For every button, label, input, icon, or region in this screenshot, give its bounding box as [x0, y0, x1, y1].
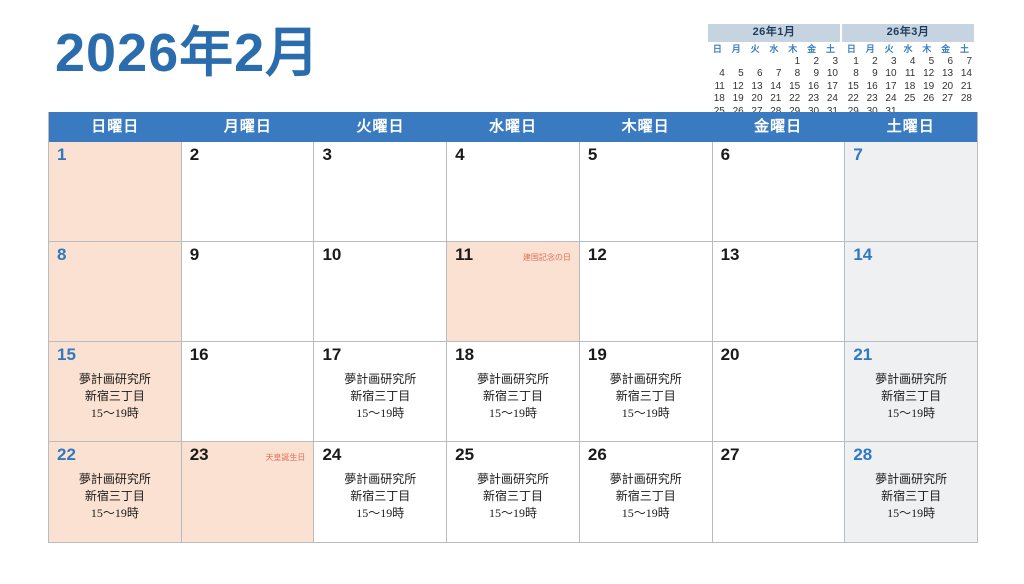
- mini-calendar-day[interactable]: [746, 56, 765, 69]
- day-cell-header: 5: [580, 142, 712, 162]
- mini-calendar-day[interactable]: 27: [936, 93, 955, 106]
- event-entry[interactable]: 夢計画研究所新宿三丁目15〜19時: [314, 471, 446, 523]
- event-entry[interactable]: 夢計画研究所新宿三丁目15〜19時: [580, 371, 712, 423]
- day-number: 22: [57, 446, 76, 465]
- event-entry[interactable]: 夢計画研究所新宿三丁目15〜19時: [580, 471, 712, 523]
- day-cell-header: 18: [447, 342, 579, 362]
- day-number: 8: [57, 246, 66, 265]
- event-line2: 新宿三丁目: [447, 388, 579, 405]
- day-cell-header: 1: [49, 142, 181, 162]
- mini-calendar-table: 日月火水木金土123456789101112131415161718192021…: [708, 43, 840, 118]
- event-line1: 夢計画研究所: [447, 471, 579, 488]
- event-line1: 夢計画研究所: [845, 371, 977, 388]
- mini-calendar-day[interactable]: 16: [802, 81, 821, 94]
- page-title: 2026年2月: [55, 26, 320, 80]
- mini-calendar-day[interactable]: 15: [783, 81, 802, 94]
- mini-calendar-prev-month: 26年1月日月火水木金土1234567891011121314151617181…: [708, 24, 840, 118]
- mini-calendar-day[interactable]: 20: [746, 93, 765, 106]
- mini-calendar-day[interactable]: 11: [899, 68, 918, 81]
- mini-calendar-day[interactable]: 24: [821, 93, 840, 106]
- day-cell-header: 26: [580, 442, 712, 462]
- mini-calendar-weekday-label: 金: [802, 43, 821, 56]
- day-number: 24: [322, 446, 341, 465]
- event-line2: 新宿三丁目: [580, 488, 712, 505]
- day-number: 21: [853, 346, 872, 365]
- day-number: 12: [588, 246, 607, 265]
- day-number: 28: [853, 446, 872, 465]
- day-cell-header: 16: [182, 342, 314, 362]
- event-line1: 夢計画研究所: [49, 371, 181, 388]
- mini-calendar-day[interactable]: 6: [746, 68, 765, 81]
- mini-calendar-week-row: 123: [708, 56, 840, 69]
- mini-calendar-day[interactable]: 19: [917, 81, 936, 94]
- event-line2: 新宿三丁目: [845, 488, 977, 505]
- weekday-header-2: 火曜日: [314, 112, 447, 142]
- mini-calendar-weekday-label: 月: [727, 43, 746, 56]
- mini-calendar-day[interactable]: 22: [842, 93, 861, 106]
- day-cell-24[interactable]: 24夢計画研究所新宿三丁目15〜19時: [314, 442, 447, 542]
- day-cell-25[interactable]: 25夢計画研究所新宿三丁目15〜19時: [447, 442, 580, 542]
- event-line3: 15〜19時: [314, 505, 446, 522]
- day-number: 6: [721, 146, 730, 165]
- mini-calendar-day[interactable]: 5: [917, 56, 936, 69]
- mini-calendar-title: 26年1月: [708, 24, 840, 42]
- event-line1: 夢計画研究所: [49, 471, 181, 488]
- event-line2: 新宿三丁目: [314, 388, 446, 405]
- day-cell-26[interactable]: 26夢計画研究所新宿三丁目15〜19時: [580, 442, 713, 542]
- event-line1: 夢計画研究所: [580, 471, 712, 488]
- event-line3: 15〜19時: [845, 405, 977, 422]
- mini-calendar-day[interactable]: 17: [880, 81, 899, 94]
- day-cell-27[interactable]: 27: [713, 442, 846, 542]
- calendar-header-region: 2026年2月 26年1月日月火水木金土12345678910111213141…: [0, 0, 1024, 108]
- day-cell-header: 2: [182, 142, 314, 162]
- mini-calendar-day[interactable]: 1: [842, 56, 861, 69]
- day-cell-15[interactable]: 15夢計画研究所新宿三丁目15〜19時: [49, 342, 182, 442]
- weekday-header-5: 金曜日: [712, 112, 845, 142]
- weekday-header-6: 土曜日: [844, 112, 977, 142]
- mini-calendar-next-month: 26年3月日月火水木金土1234567891011121314151617181…: [842, 24, 974, 118]
- day-cell-header: 27: [713, 442, 845, 462]
- week-row: 22夢計画研究所新宿三丁目15〜19時23天皇誕生日24夢計画研究所新宿三丁目1…: [49, 442, 977, 542]
- mini-calendar-day[interactable]: 11: [708, 81, 727, 94]
- calendar-grid: 日曜日月曜日火曜日水曜日木曜日金曜日土曜日 1234567891011建国記念の…: [48, 112, 978, 543]
- day-cell-header: 21: [845, 342, 977, 362]
- mini-calendar-week-row: 891011121314: [842, 68, 974, 81]
- day-cell-6[interactable]: 6: [713, 142, 846, 242]
- weekday-header-4: 木曜日: [579, 112, 712, 142]
- day-cell-header: 23天皇誕生日: [182, 442, 314, 462]
- mini-calendar-week-row: 15161718192021: [842, 81, 974, 94]
- mini-calendar-weekday-row: 日月火水木金土: [842, 43, 974, 56]
- day-number: 1: [57, 146, 66, 165]
- mini-calendar-week-row: 11121314151617: [708, 81, 840, 94]
- event-line3: 15〜19時: [49, 505, 181, 522]
- day-cell-10[interactable]: 10: [314, 242, 447, 342]
- day-number: 5: [588, 146, 597, 165]
- day-cell-11[interactable]: 11建国記念の日: [447, 242, 580, 342]
- event-entry[interactable]: 夢計画研究所新宿三丁目15〜19時: [49, 371, 181, 423]
- event-entry[interactable]: 夢計画研究所新宿三丁目15〜19時: [845, 471, 977, 523]
- day-cell-header: 20: [713, 342, 845, 362]
- day-cell-3[interactable]: 3: [314, 142, 447, 242]
- day-cell-header: 13: [713, 242, 845, 262]
- day-cell-header: 25: [447, 442, 579, 462]
- event-line1: 夢計画研究所: [447, 371, 579, 388]
- mini-calendar-day[interactable]: [765, 56, 784, 69]
- day-cell-header: 9: [182, 242, 314, 262]
- mini-calendar-day[interactable]: 23: [802, 93, 821, 106]
- day-number: 11: [455, 246, 473, 265]
- event-line1: 夢計画研究所: [314, 471, 446, 488]
- mini-calendar-day[interactable]: 12: [727, 81, 746, 94]
- mini-calendar-day[interactable]: 12: [917, 68, 936, 81]
- day-cell-22[interactable]: 22夢計画研究所新宿三丁目15〜19時: [49, 442, 182, 542]
- mini-calendar-weekday-label: 木: [917, 43, 936, 56]
- mini-calendar-day[interactable]: 13: [746, 81, 765, 94]
- mini-calendar-day[interactable]: 18: [899, 81, 918, 94]
- weekday-header-0: 日曜日: [49, 112, 182, 142]
- mini-calendar-day[interactable]: 6: [936, 56, 955, 69]
- day-number: 14: [853, 246, 872, 265]
- event-entry[interactable]: 夢計画研究所新宿三丁目15〜19時: [447, 471, 579, 523]
- day-cell-header: 3: [314, 142, 446, 162]
- mini-calendar-weekday-label: 日: [708, 43, 727, 56]
- mini-calendar-day[interactable]: [727, 56, 746, 69]
- event-line2: 新宿三丁目: [845, 388, 977, 405]
- day-number: 19: [588, 346, 607, 365]
- event-line3: 15〜19時: [447, 505, 579, 522]
- mini-calendar-day[interactable]: 8: [842, 68, 861, 81]
- day-number: 7: [853, 146, 862, 165]
- day-cell-header: 22: [49, 442, 181, 462]
- day-cell-header: 19: [580, 342, 712, 362]
- mini-calendar-day[interactable]: 18: [708, 93, 727, 106]
- mini-calendar-day[interactable]: 10: [880, 68, 899, 81]
- calendar-week-rows: 1234567891011建国記念の日12131415夢計画研究所新宿三丁目15…: [49, 142, 977, 542]
- mini-calendar-weekday-label: 水: [899, 43, 918, 56]
- mini-calendar-day[interactable]: 14: [765, 81, 784, 94]
- mini-calendar-day[interactable]: 5: [727, 68, 746, 81]
- mini-calendar-day[interactable]: 10: [821, 68, 840, 81]
- day-cell-header: 17: [314, 342, 446, 362]
- holiday-label: 天皇誕生日: [265, 453, 307, 463]
- mini-calendar-weekday-row: 日月火水木金土: [708, 43, 840, 56]
- event-entry[interactable]: 夢計画研究所新宿三丁目15〜19時: [845, 371, 977, 423]
- mini-calendar-day[interactable]: 26: [917, 93, 936, 106]
- event-line3: 15〜19時: [580, 505, 712, 522]
- holiday-label: 建国記念の日: [523, 253, 573, 263]
- mini-calendar-week-row: 18192021222324: [708, 93, 840, 106]
- day-number: 4: [455, 146, 464, 165]
- mini-calendar-day[interactable]: 23: [861, 93, 880, 106]
- mini-calendar-table: 日月火水木金土123456789101112131415161718192021…: [842, 43, 974, 118]
- mini-calendar-weekday-label: 火: [880, 43, 899, 56]
- mini-calendar-day[interactable]: 7: [955, 56, 974, 69]
- day-cell-12[interactable]: 12: [580, 242, 713, 342]
- day-cell-23[interactable]: 23天皇誕生日: [182, 442, 315, 542]
- day-cell-8[interactable]: 8: [49, 242, 182, 342]
- weekday-header-3: 水曜日: [447, 112, 580, 142]
- mini-calendar-day[interactable]: 25: [899, 93, 918, 106]
- event-line1: 夢計画研究所: [314, 371, 446, 388]
- mini-calendar-day[interactable]: 21: [955, 81, 974, 94]
- mini-calendar-day[interactable]: 3: [821, 56, 840, 69]
- mini-calendar-weekday-label: 火: [746, 43, 765, 56]
- day-cell-7[interactable]: 7: [845, 142, 977, 242]
- mini-calendar-day[interactable]: 15: [842, 81, 861, 94]
- mini-calendar-day[interactable]: 8: [783, 68, 802, 81]
- mini-calendar-day[interactable]: 1: [783, 56, 802, 69]
- event-entry[interactable]: 夢計画研究所新宿三丁目15〜19時: [49, 471, 181, 523]
- event-line2: 新宿三丁目: [580, 388, 712, 405]
- mini-calendar-weekday-label: 土: [955, 43, 974, 56]
- mini-calendar-week-row: 45678910: [708, 68, 840, 81]
- day-number: 10: [322, 246, 341, 265]
- week-row: 891011建国記念の日121314: [49, 242, 977, 342]
- event-line3: 15〜19時: [845, 505, 977, 522]
- day-number: 25: [455, 446, 474, 465]
- mini-calendar-weekday-label: 金: [936, 43, 955, 56]
- mini-calendar-day[interactable]: [708, 56, 727, 69]
- mini-calendar-week-row: 22232425262728: [842, 93, 974, 106]
- event-line2: 新宿三丁目: [49, 488, 181, 505]
- day-cell-header: 15: [49, 342, 181, 362]
- mini-calendar-day[interactable]: 28: [955, 93, 974, 106]
- mini-calendar-weekday-label: 土: [821, 43, 840, 56]
- event-line2: 新宿三丁目: [49, 388, 181, 405]
- weekday-header-row: 日曜日月曜日火曜日水曜日木曜日金曜日土曜日: [49, 112, 977, 142]
- day-cell-2[interactable]: 2: [182, 142, 315, 242]
- day-number: 15: [57, 346, 76, 365]
- mini-calendar-day[interactable]: 22: [783, 93, 802, 106]
- event-line1: 夢計画研究所: [580, 371, 712, 388]
- mini-calendar-day[interactable]: 4: [708, 68, 727, 81]
- mini-calendar-day[interactable]: 16: [861, 81, 880, 94]
- event-line3: 15〜19時: [49, 405, 181, 422]
- day-cell-header: 8: [49, 242, 181, 262]
- day-cell-header: 28: [845, 442, 977, 462]
- event-line3: 15〜19時: [447, 405, 579, 422]
- day-cell-header: 24: [314, 442, 446, 462]
- mini-calendar-day[interactable]: 4: [899, 56, 918, 69]
- day-cell-17[interactable]: 17夢計画研究所新宿三丁目15〜19時: [314, 342, 447, 442]
- mini-calendar-day[interactable]: 19: [727, 93, 746, 106]
- day-number: 9: [190, 246, 199, 265]
- mini-calendar-day[interactable]: 14: [955, 68, 974, 81]
- mini-calendar-day[interactable]: 7: [765, 68, 784, 81]
- mini-calendar-week-row: 1234567: [842, 56, 974, 69]
- event-line2: 新宿三丁目: [447, 488, 579, 505]
- weekday-header-1: 月曜日: [182, 112, 315, 142]
- day-cell-19[interactable]: 19夢計画研究所新宿三丁目15〜19時: [580, 342, 713, 442]
- day-cell-header: 11建国記念の日: [447, 242, 579, 262]
- event-entry[interactable]: 夢計画研究所新宿三丁目15〜19時: [447, 371, 579, 423]
- mini-calendar-day[interactable]: 2: [802, 56, 821, 69]
- day-number: 16: [190, 346, 209, 365]
- day-cell-4[interactable]: 4: [447, 142, 580, 242]
- day-cell-header: 14: [845, 242, 977, 262]
- day-number: 18: [455, 346, 474, 365]
- day-cell-header: 10: [314, 242, 446, 262]
- week-row: 15夢計画研究所新宿三丁目15〜19時1617夢計画研究所新宿三丁目15〜19時…: [49, 342, 977, 442]
- day-cell-13[interactable]: 13: [713, 242, 846, 342]
- event-line1: 夢計画研究所: [845, 471, 977, 488]
- day-cell-9[interactable]: 9: [182, 242, 315, 342]
- mini-calendar-title: 26年3月: [842, 24, 974, 42]
- mini-calendar-day[interactable]: 24: [880, 93, 899, 106]
- day-cell-21[interactable]: 21夢計画研究所新宿三丁目15〜19時: [845, 342, 977, 442]
- day-cell-5[interactable]: 5: [580, 142, 713, 242]
- mini-calendar-day[interactable]: 9: [861, 68, 880, 81]
- mini-calendar-day[interactable]: 9: [802, 68, 821, 81]
- day-cell-1[interactable]: 1: [49, 142, 182, 242]
- day-number: 27: [721, 446, 740, 465]
- event-line3: 15〜19時: [314, 405, 446, 422]
- event-entry[interactable]: 夢計画研究所新宿三丁目15〜19時: [314, 371, 446, 423]
- mini-calendar-weekday-label: 日: [842, 43, 861, 56]
- event-line3: 15〜19時: [580, 405, 712, 422]
- day-cell-header: 4: [447, 142, 579, 162]
- mini-calendar-day[interactable]: 3: [880, 56, 899, 69]
- day-cell-header: 6: [713, 142, 845, 162]
- mini-calendar-day[interactable]: 20: [936, 81, 955, 94]
- day-cell-16[interactable]: 16: [182, 342, 315, 442]
- day-number: 26: [588, 446, 607, 465]
- mini-calendar-day[interactable]: 17: [821, 81, 840, 94]
- day-number: 13: [721, 246, 740, 265]
- day-cell-18[interactable]: 18夢計画研究所新宿三丁目15〜19時: [447, 342, 580, 442]
- mini-calendar-weekday-label: 水: [765, 43, 784, 56]
- event-line2: 新宿三丁目: [314, 488, 446, 505]
- day-number: 20: [721, 346, 740, 365]
- day-cell-header: 12: [580, 242, 712, 262]
- day-number: 17: [322, 346, 341, 365]
- mini-calendar-weekday-label: 月: [861, 43, 880, 56]
- day-cell-28[interactable]: 28夢計画研究所新宿三丁目15〜19時: [845, 442, 977, 542]
- mini-calendar-weekday-label: 木: [783, 43, 802, 56]
- day-number: 23: [190, 446, 209, 465]
- day-number: 2: [190, 146, 199, 165]
- day-cell-14[interactable]: 14: [845, 242, 977, 342]
- day-cell-header: 7: [845, 142, 977, 162]
- day-cell-20[interactable]: 20: [713, 342, 846, 442]
- mini-calendar-day[interactable]: 2: [861, 56, 880, 69]
- day-number: 3: [322, 146, 331, 165]
- mini-calendar-day[interactable]: 13: [936, 68, 955, 81]
- week-row: 1234567: [49, 142, 977, 242]
- mini-calendar-day[interactable]: 21: [765, 93, 784, 106]
